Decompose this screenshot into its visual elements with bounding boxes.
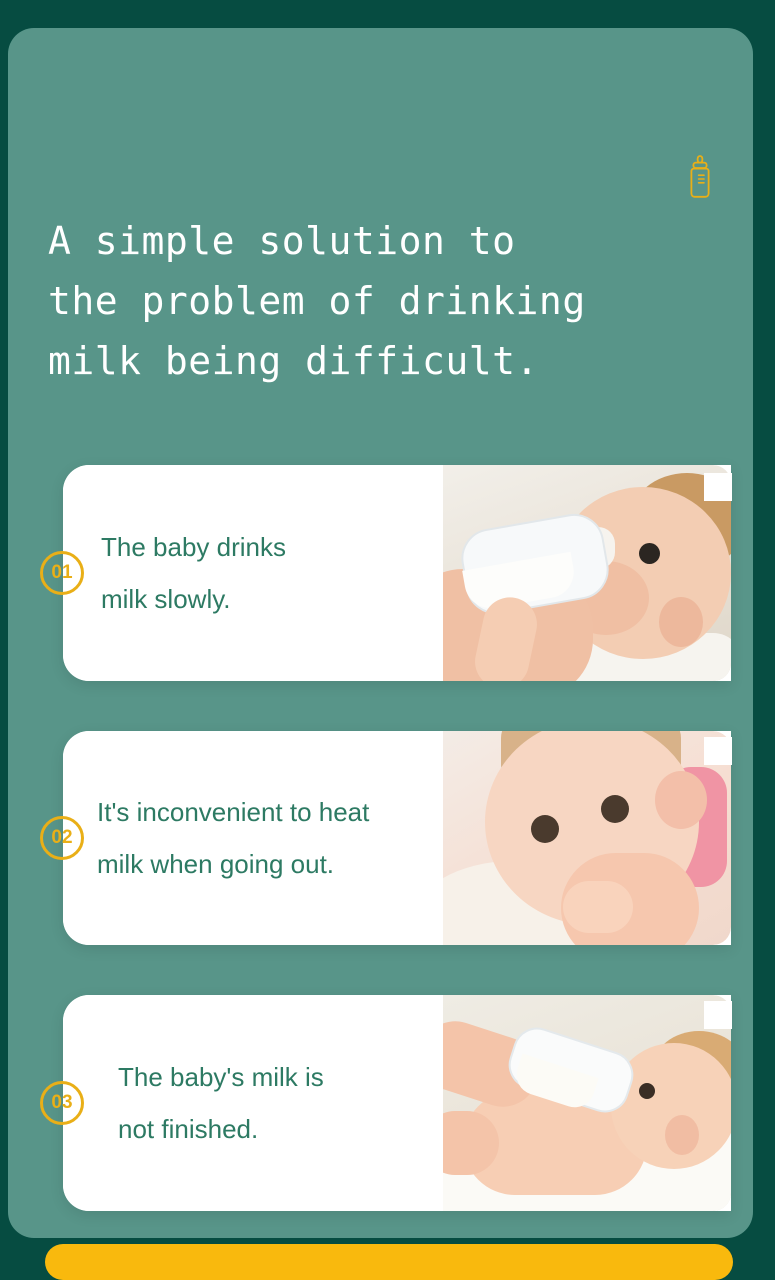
card-text-03: The baby's milk is not finished. bbox=[118, 1051, 478, 1155]
problem-card-03[interactable]: The baby's milk is not finished. bbox=[63, 995, 731, 1211]
corner-notch-02 bbox=[704, 737, 732, 765]
photo-scene-baby-closeup bbox=[443, 731, 731, 945]
corner-notch-03 bbox=[704, 1001, 732, 1029]
baby-bottle-icon bbox=[685, 154, 715, 200]
card-number-badge-03: 03 bbox=[40, 1081, 84, 1125]
card-photo-03 bbox=[443, 995, 731, 1211]
photo-scene-baby-bottle-feed bbox=[443, 465, 731, 681]
card-surface: It's inconvenient to heat milk when goin… bbox=[63, 731, 731, 945]
corner-notch-01 bbox=[704, 473, 732, 501]
slide-root: A simple solution to the problem of drin… bbox=[0, 0, 775, 1280]
page-title: A simple solution to the problem of drin… bbox=[48, 211, 688, 391]
card-photo-01 bbox=[443, 465, 731, 681]
problem-card-02[interactable]: It's inconvenient to heat milk when goin… bbox=[63, 731, 731, 945]
photo-scene-changing-table-feed bbox=[443, 995, 731, 1211]
card-surface: The baby's milk is not finished. bbox=[63, 995, 731, 1211]
bottom-accent-bar bbox=[45, 1244, 733, 1280]
content-panel: A simple solution to the problem of drin… bbox=[8, 28, 753, 1238]
card-number-badge-02: 02 bbox=[40, 816, 84, 860]
card-photo-02 bbox=[443, 731, 731, 945]
card-surface: The baby drinks milk slowly. bbox=[63, 465, 731, 681]
card-text-01: The baby drinks milk slowly. bbox=[101, 521, 461, 625]
problem-card-01[interactable]: The baby drinks milk slowly. bbox=[63, 465, 731, 681]
card-text-02: It's inconvenient to heat milk when goin… bbox=[97, 786, 497, 890]
card-number-badge-01: 01 bbox=[40, 551, 84, 595]
